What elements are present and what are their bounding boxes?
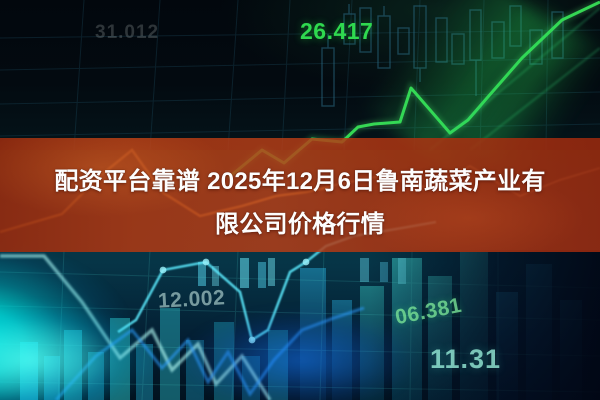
market-banner-image: 31.012 26.417 12.002 06.381 11.31 配资平台靠谱…: [0, 0, 600, 400]
label-31012: 31.012: [95, 22, 159, 44]
label-26417: 26.417: [300, 18, 373, 45]
label-12002: 12.002: [157, 286, 225, 313]
label-1131: 11.31: [430, 344, 501, 375]
headline-title: 配资平台靠谱 2025年12月6日鲁南蔬菜产业有 限公司价格行情: [0, 160, 600, 246]
